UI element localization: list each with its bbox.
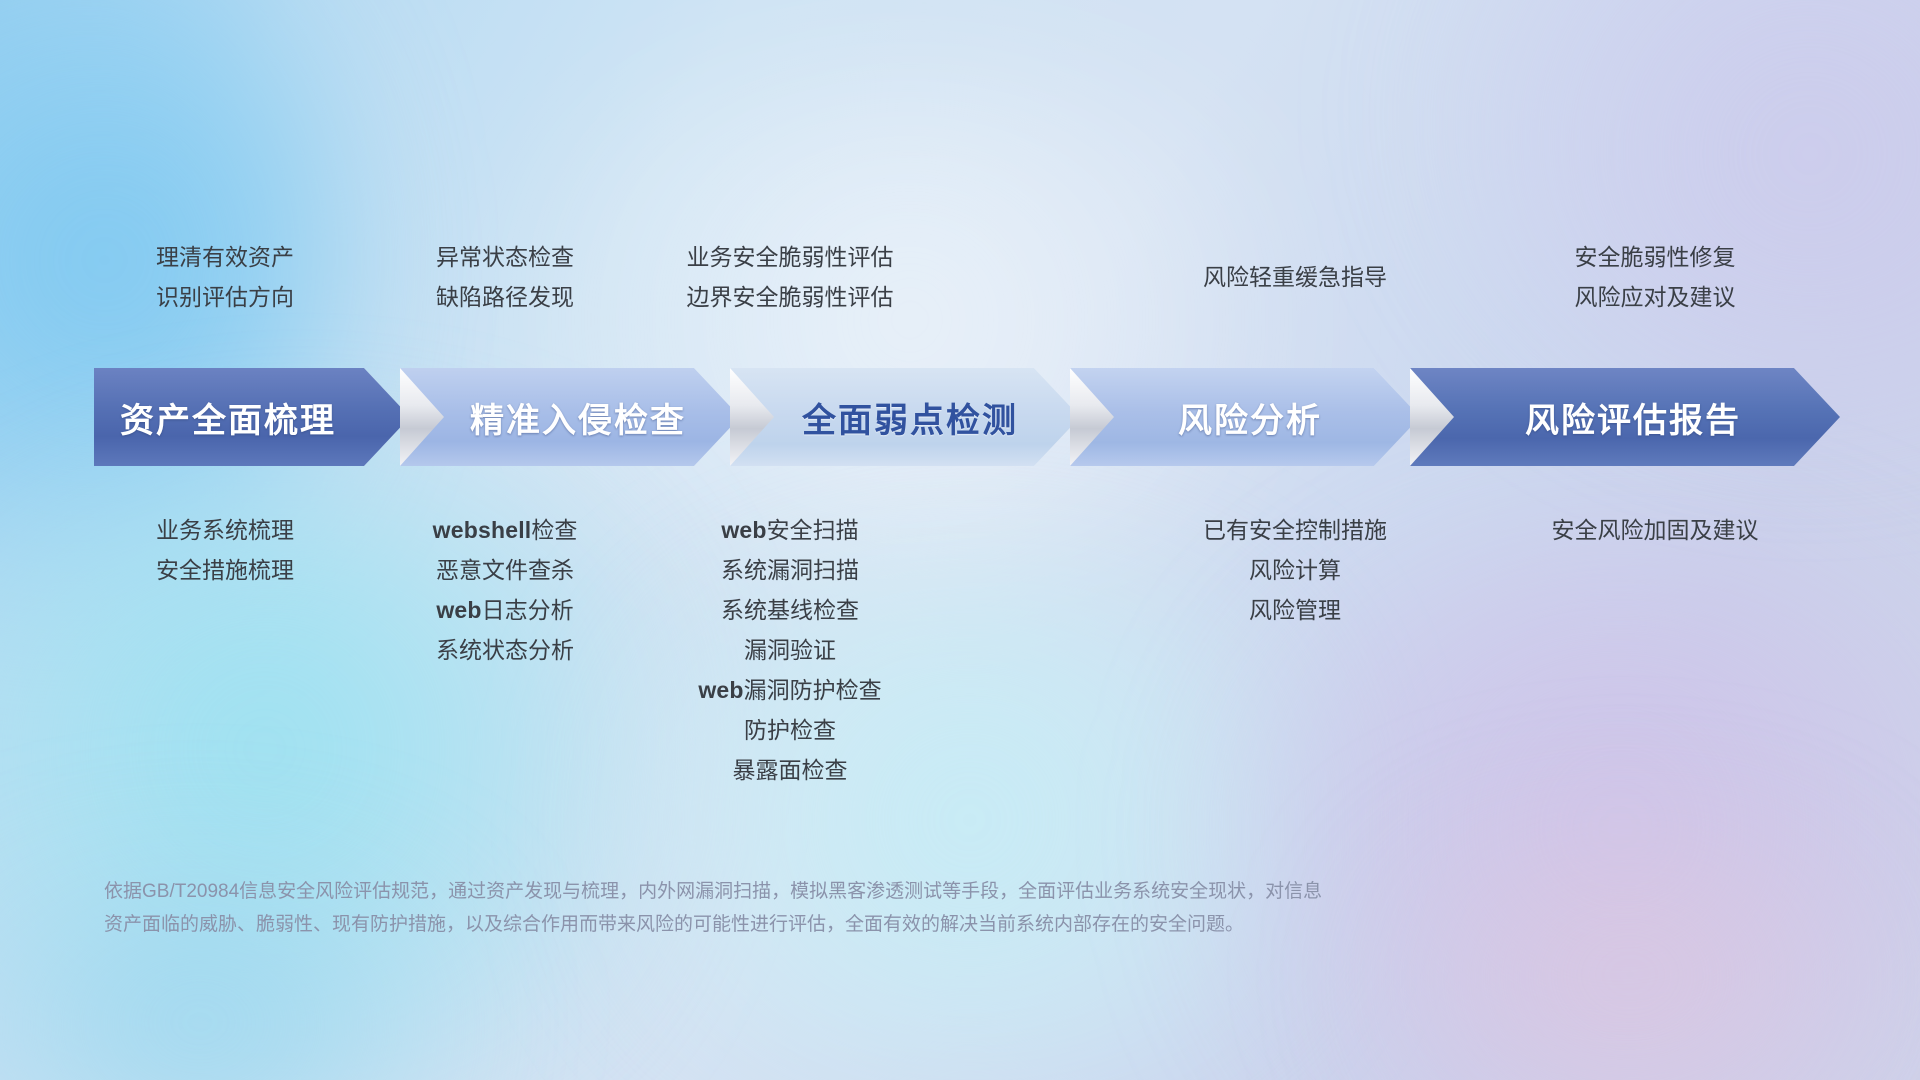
stage-above-text-risk-analysis: 风险轻重缓急指导: [1130, 257, 1460, 297]
stage-below-text-intrusion-check: webshell检查 恶意文件查杀 web日志分析 系统状态分析: [340, 510, 670, 670]
above-line: 边界安全脆弱性评估: [625, 277, 955, 317]
below-line-cjk: 安全扫描: [767, 517, 859, 543]
stage-chevron-risk-analysis[interactable]: 风险分析: [1070, 368, 1420, 466]
process-arrow-band: 资产全面梳理 精准入侵检查 全面弱点检测 风险分析 风险评估报告: [0, 368, 1920, 466]
above-line: 缺陷路径发现: [340, 277, 670, 317]
stage-chevron-risk-report[interactable]: 风险评估报告: [1410, 368, 1840, 466]
footer-line-1: 依据GB/T20984信息安全风险评估规范，通过资产发现与梳理，内外网漏洞扫描，…: [104, 875, 1604, 908]
above-line: 风险应对及建议: [1490, 277, 1820, 317]
above-line: 安全脆弱性修复: [1490, 237, 1820, 277]
below-line: web日志分析: [340, 590, 670, 630]
below-line-latin: web: [721, 517, 766, 543]
below-line-cjk: 暴露面检查: [733, 757, 848, 783]
below-line: 系统状态分析: [340, 630, 670, 670]
above-line: 风险轻重缓急指导: [1130, 257, 1460, 297]
below-line-cjk: 日志分析: [482, 597, 574, 623]
background-glow-lilac-top-right: [1430, 0, 1920, 410]
background-glow-pink-bottom-right: [1320, 830, 1920, 1080]
slide-canvas: 理清有效资产 识别评估方向 异常状态检查 缺陷路径发现 业务安全脆弱性评估 边界…: [0, 0, 1920, 1080]
below-line-cjk: 防护检查: [744, 717, 836, 743]
below-line: web安全扫描: [625, 510, 955, 550]
below-line: webshell检查: [340, 510, 670, 550]
stage-above-text-weakness-detection: 业务安全脆弱性评估 边界安全脆弱性评估: [625, 237, 955, 317]
below-line: 风险管理: [1130, 590, 1460, 630]
below-line-latin: webshell: [433, 517, 532, 543]
stage-chevron-asset-inventory[interactable]: 资产全面梳理: [94, 368, 410, 466]
below-line: 防护检查: [625, 710, 955, 750]
stage-below-text-weakness-detection: web安全扫描 系统漏洞扫描 系统基线检查 漏洞验证 web漏洞防护检查 防护检…: [625, 510, 955, 790]
below-line-cjk: 系统状态分析: [436, 637, 574, 663]
below-line: 系统漏洞扫描: [625, 550, 955, 590]
stage-chevron-weakness-detection[interactable]: 全面弱点检测: [730, 368, 1080, 466]
below-line-cjk: 系统漏洞扫描: [721, 557, 859, 583]
stage-label: 精准入侵检查: [470, 393, 686, 442]
below-line-cjk: 漏洞验证: [744, 637, 836, 663]
stage-chevron-intrusion-check[interactable]: 精准入侵检查: [400, 368, 740, 466]
below-line: 漏洞验证: [625, 630, 955, 670]
below-line: 已有安全控制措施: [1130, 510, 1460, 550]
stage-label: 风险分析: [1178, 393, 1322, 442]
below-line-cjk: 漏洞防护检查: [744, 677, 882, 703]
below-line-latin: web: [436, 597, 481, 623]
below-line-cjk: 检查: [531, 517, 577, 543]
background-glow-center: [420, 60, 1400, 580]
footer-line-2: 资产面临的威胁、脆弱性、现有防护措施，以及综合作用而带来风险的可能性进行评估，全…: [104, 908, 1604, 941]
below-line-latin: web: [698, 677, 743, 703]
stage-label: 风险评估报告: [1525, 393, 1741, 442]
stage-label: 全面弱点检测: [802, 393, 1018, 442]
stage-above-text-risk-report: 安全脆弱性修复 风险应对及建议: [1490, 237, 1820, 317]
below-line: web漏洞防护检查: [625, 670, 955, 710]
below-line-cjk: 系统基线检查: [721, 597, 859, 623]
above-line: 业务安全脆弱性评估: [625, 237, 955, 277]
below-line: 暴露面检查: [625, 750, 955, 790]
stage-below-text-risk-report: 安全风险加固及建议: [1455, 510, 1855, 550]
stage-below-text-risk-analysis: 已有安全控制措施 风险计算 风险管理: [1130, 510, 1460, 630]
footer-note: 依据GB/T20984信息安全风险评估规范，通过资产发现与梳理，内外网漏洞扫描，…: [104, 875, 1604, 941]
stage-label: 资产全面梳理: [120, 393, 336, 442]
below-line: 风险计算: [1130, 550, 1460, 590]
below-line: 安全风险加固及建议: [1455, 510, 1855, 550]
below-line: 恶意文件查杀: [340, 550, 670, 590]
below-line: 系统基线检查: [625, 590, 955, 630]
stage-above-text-intrusion-check: 异常状态检查 缺陷路径发现: [340, 237, 670, 317]
below-line-cjk: 恶意文件查杀: [436, 557, 574, 583]
above-line: 异常状态检查: [340, 237, 670, 277]
